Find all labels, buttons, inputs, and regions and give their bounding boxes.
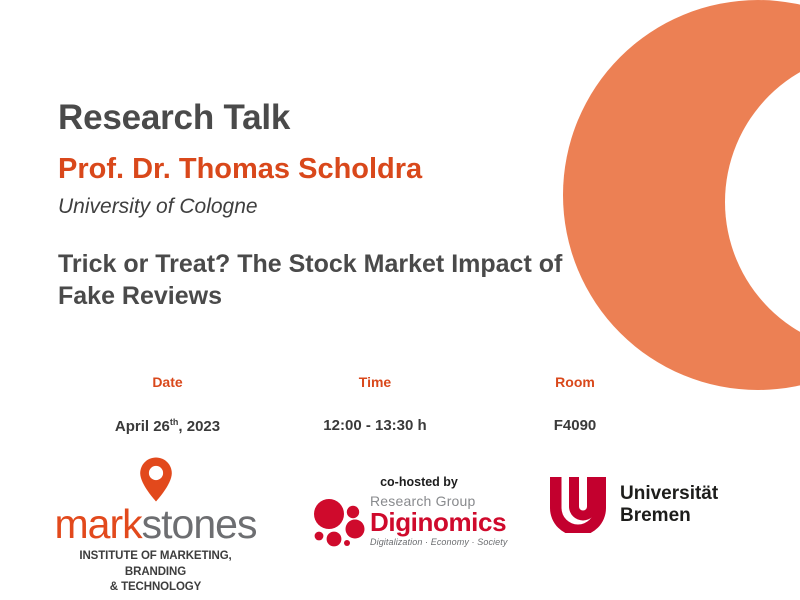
diginomics-name: Diginomics [370, 509, 507, 535]
page-title: Research Talk [58, 100, 290, 135]
diginomics-tagline: Digitalization · Economy · Society [370, 537, 507, 547]
poster-content: Research Talk Prof. Dr. Thomas Scholdra … [0, 0, 800, 600]
event-details: Date April 26th, 2023 Time 12:00 - 13:30… [60, 375, 680, 434]
bremen-u-icon [548, 477, 608, 533]
detail-value-time: 12:00 - 13:30 h [275, 418, 475, 433]
bremen-line-2: Bremen [620, 505, 718, 527]
research-talk-poster: Research Talk Prof. Dr. Thomas Scholdra … [0, 0, 800, 600]
detail-label-time: Time [275, 375, 475, 389]
markstones-subtitle-line2: & TECHNOLOGY [48, 580, 263, 596]
logo-markstones: markstones INSTITUTE OF MARKETING, BRAND… [48, 457, 263, 596]
map-pin-icon [139, 457, 173, 502]
speaker-name: Prof. Dr. Thomas Scholdra [58, 155, 422, 184]
detail-column-date: Date April 26th, 2023 [60, 375, 275, 434]
dot-cluster-icon [312, 498, 368, 550]
bremen-line-1: Universität [620, 483, 718, 505]
diginomics-text: Research Group Diginomics Digitalization… [370, 494, 507, 547]
talk-title: Trick or Treat? The Stock Market Impact … [58, 248, 603, 312]
markstones-subtitle-line1: INSTITUTE OF MARKETING, BRANDING [48, 549, 263, 580]
detail-column-time: Time 12:00 - 13:30 h [275, 375, 475, 434]
detail-value-room: F4090 [475, 418, 675, 433]
markstones-subtitle: INSTITUTE OF MARKETING, BRANDING & TECHN… [48, 549, 263, 596]
markstones-wordmark: markstones [48, 504, 263, 545]
markstones-word-mark: mark [55, 501, 142, 547]
detail-value-date-suffix: , 2023 [178, 418, 220, 435]
detail-value-date: April 26th, 2023 [60, 418, 275, 434]
logo-strip: markstones INSTITUTE OF MARKETING, BRAND… [0, 455, 800, 600]
diginomics-lockup: Research Group Diginomics Digitalization… [312, 494, 512, 552]
logo-diginomics: co-hosted by Research Group [312, 475, 512, 552]
detail-label-room: Room [475, 375, 675, 389]
bremen-wordmark: Universität Bremen [620, 483, 718, 528]
detail-label-date: Date [60, 375, 275, 389]
logo-universitaet-bremen: Universität Bremen [548, 477, 758, 533]
cohost-label: co-hosted by [326, 475, 512, 489]
markstones-word-stones: stones [142, 501, 257, 547]
detail-column-room: Room F4090 [475, 375, 675, 434]
detail-value-date-prefix: April 26 [115, 418, 170, 435]
speaker-affiliation: University of Cologne [58, 196, 258, 217]
